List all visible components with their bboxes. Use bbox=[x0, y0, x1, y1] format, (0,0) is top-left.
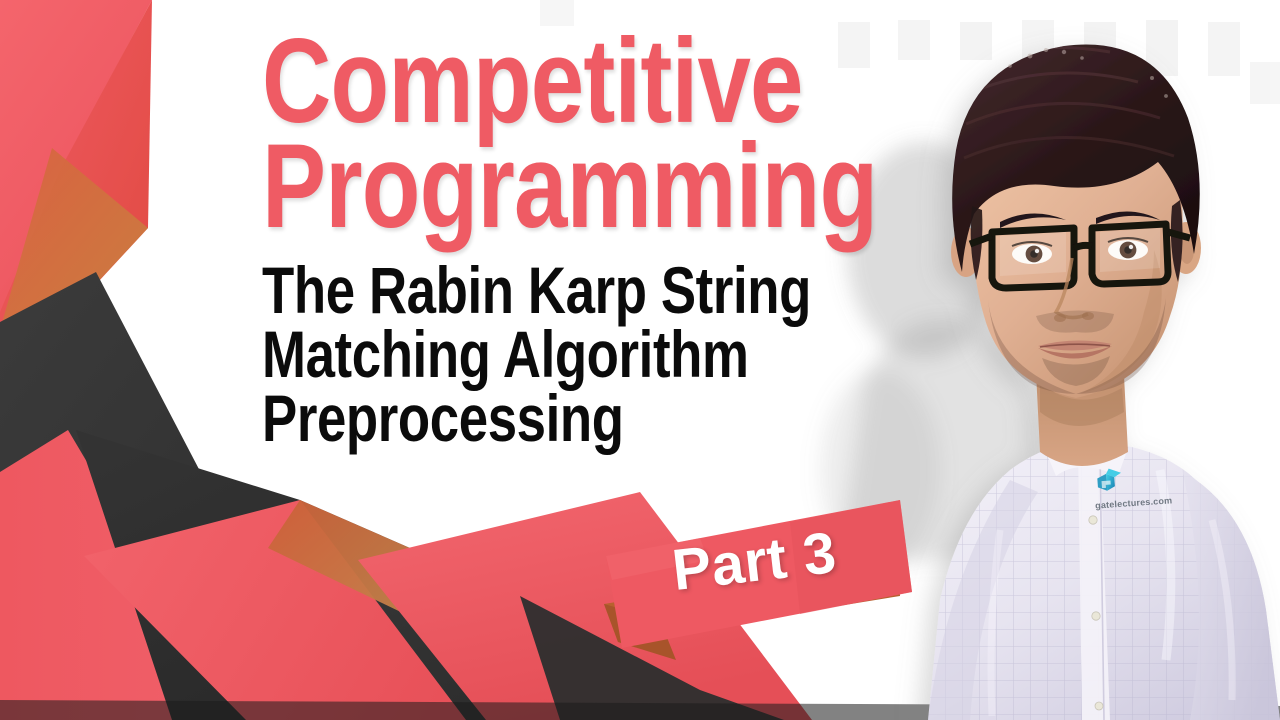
subtitle-line-3: Preprocessing bbox=[262, 386, 822, 450]
thumbnail-canvas: gatelectures.com Competitive Programming… bbox=[0, 0, 1280, 720]
part-badge-label: Part 3 bbox=[599, 485, 910, 636]
shirt-button bbox=[1095, 702, 1103, 710]
part-badge: Part 3 bbox=[604, 500, 904, 618]
subtitle-group: The Rabin Karp String Matching Algorithm… bbox=[262, 258, 962, 450]
main-title-line-2: Programming bbox=[262, 135, 822, 238]
subtitle-line-1: The Rabin Karp String bbox=[262, 258, 822, 322]
shirt-button bbox=[1089, 516, 1097, 524]
shirt-button bbox=[1092, 612, 1100, 620]
subtitle-line-2: Matching Algorithm bbox=[262, 322, 822, 386]
title-group: Competitive Programming The Rabin Karp S… bbox=[262, 30, 962, 450]
main-title-line-1: Competitive bbox=[262, 30, 822, 133]
